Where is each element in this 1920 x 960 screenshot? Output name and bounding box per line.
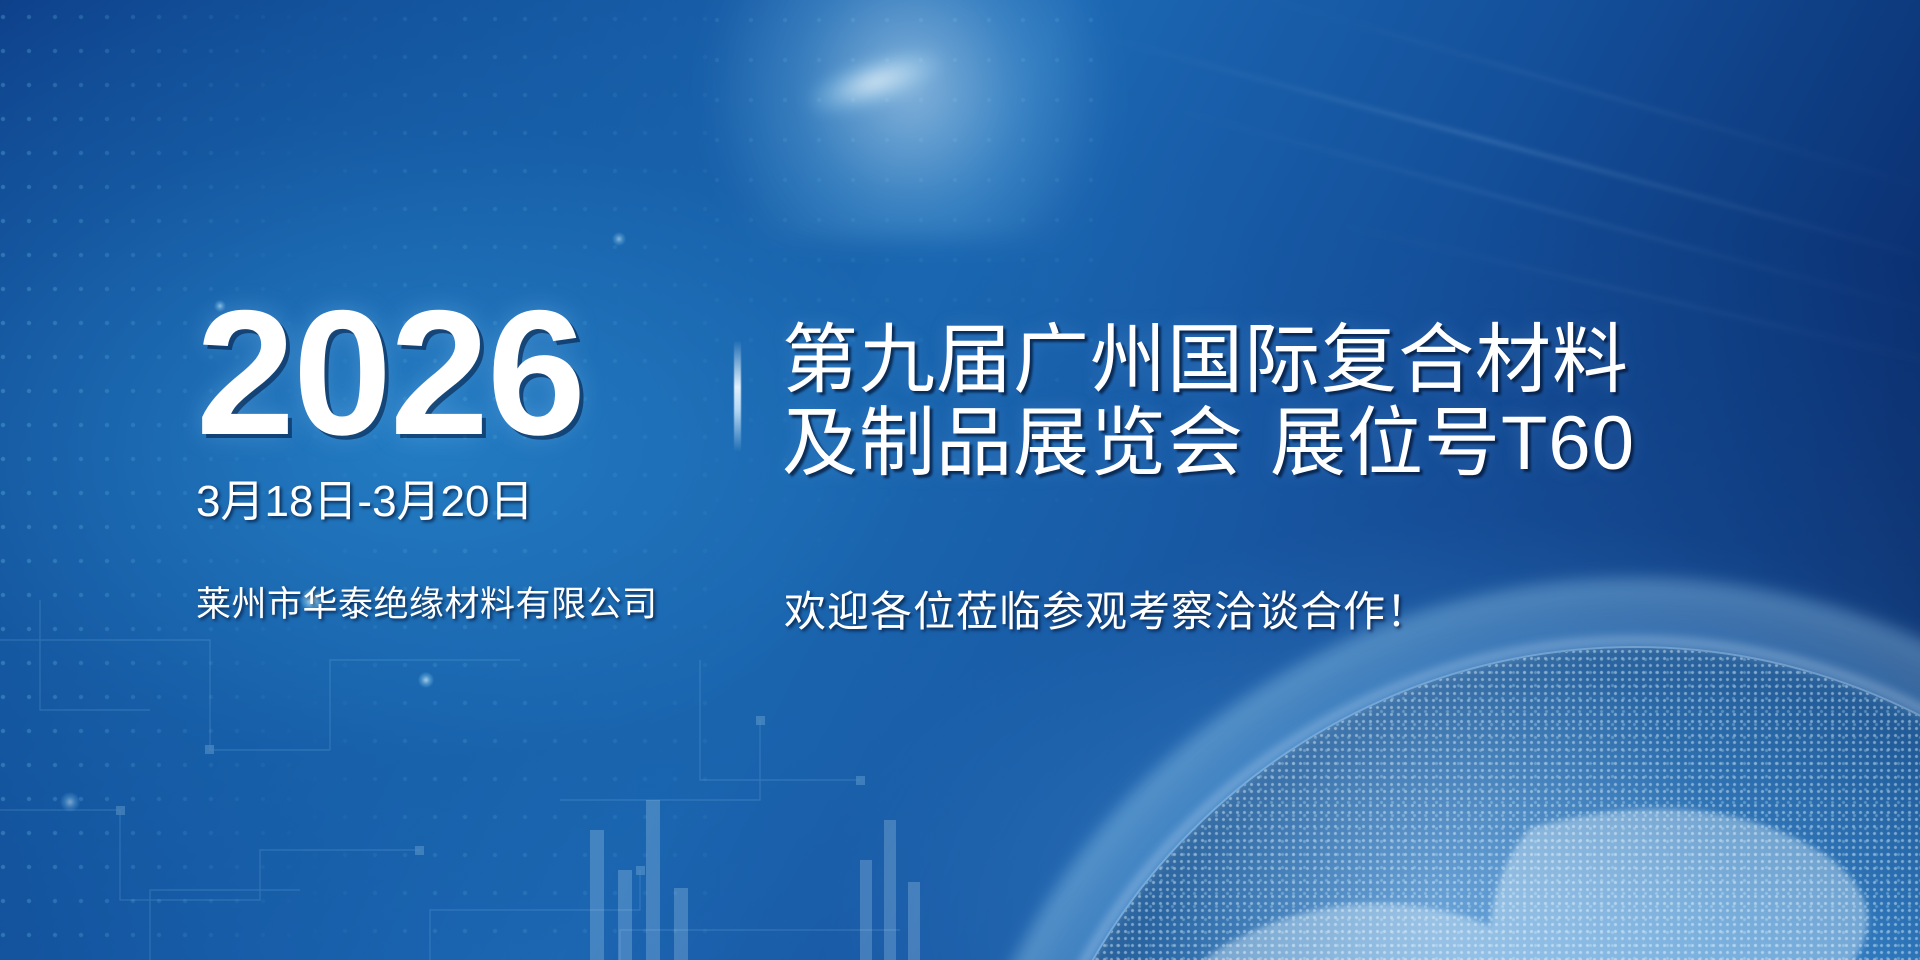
headline-line-1: 第九届广州国际复合材料 — [782, 320, 1902, 403]
exhibition-banner: 2026 3月18日-3月20日 莱州市华泰绝缘材料有限公司 第九届广州国际复合… — [0, 0, 1920, 960]
vertical-divider — [734, 340, 741, 452]
year-block: 2026 3月18日-3月20日 — [196, 296, 716, 529]
company-name: 莱州市华泰绝缘材料有限公司 — [196, 576, 658, 627]
headline-line-2: 及制品展览会展位号T60 — [782, 403, 1902, 486]
headline-line-2-text: 及制品展览会 — [782, 401, 1244, 486]
event-dates: 3月18日-3月20日 — [196, 465, 716, 529]
booth-number: 展位号T60 — [1270, 401, 1635, 486]
year-text: 2026 — [196, 296, 716, 449]
welcome-message: 欢迎各位莅临参观考察洽谈合作！ — [784, 578, 1429, 639]
banner-content: 2026 3月18日-3月20日 莱州市华泰绝缘材料有限公司 第九届广州国际复合… — [0, 0, 1920, 960]
headline-block: 第九届广州国际复合材料 及制品展览会展位号T60 — [782, 320, 1902, 486]
